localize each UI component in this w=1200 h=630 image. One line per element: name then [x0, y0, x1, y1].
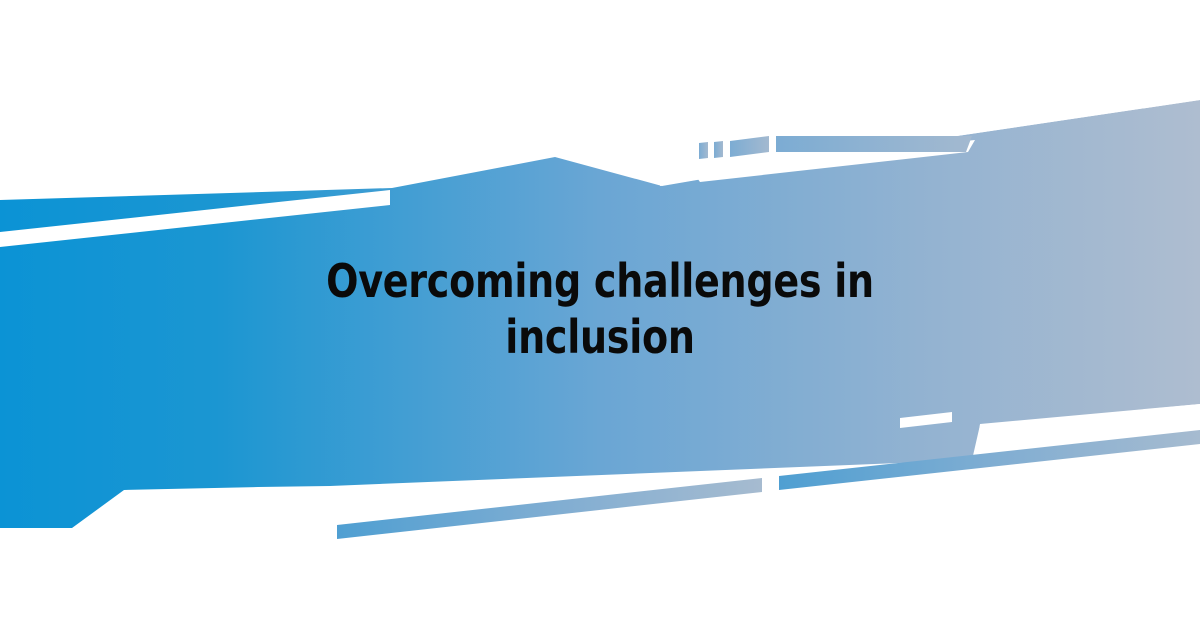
banner-canvas: Overcoming challenges in inclusion	[0, 0, 1200, 630]
dash-mark-4	[776, 136, 972, 152]
lower-bar-left-segment	[337, 478, 762, 539]
main-band-group	[0, 100, 1200, 528]
banner-graphic	[0, 0, 1200, 630]
dash-mark-1	[699, 142, 708, 159]
dash-mark-2	[714, 141, 723, 158]
main-gradient-band	[0, 100, 1200, 528]
dash-mark-3	[730, 136, 769, 157]
